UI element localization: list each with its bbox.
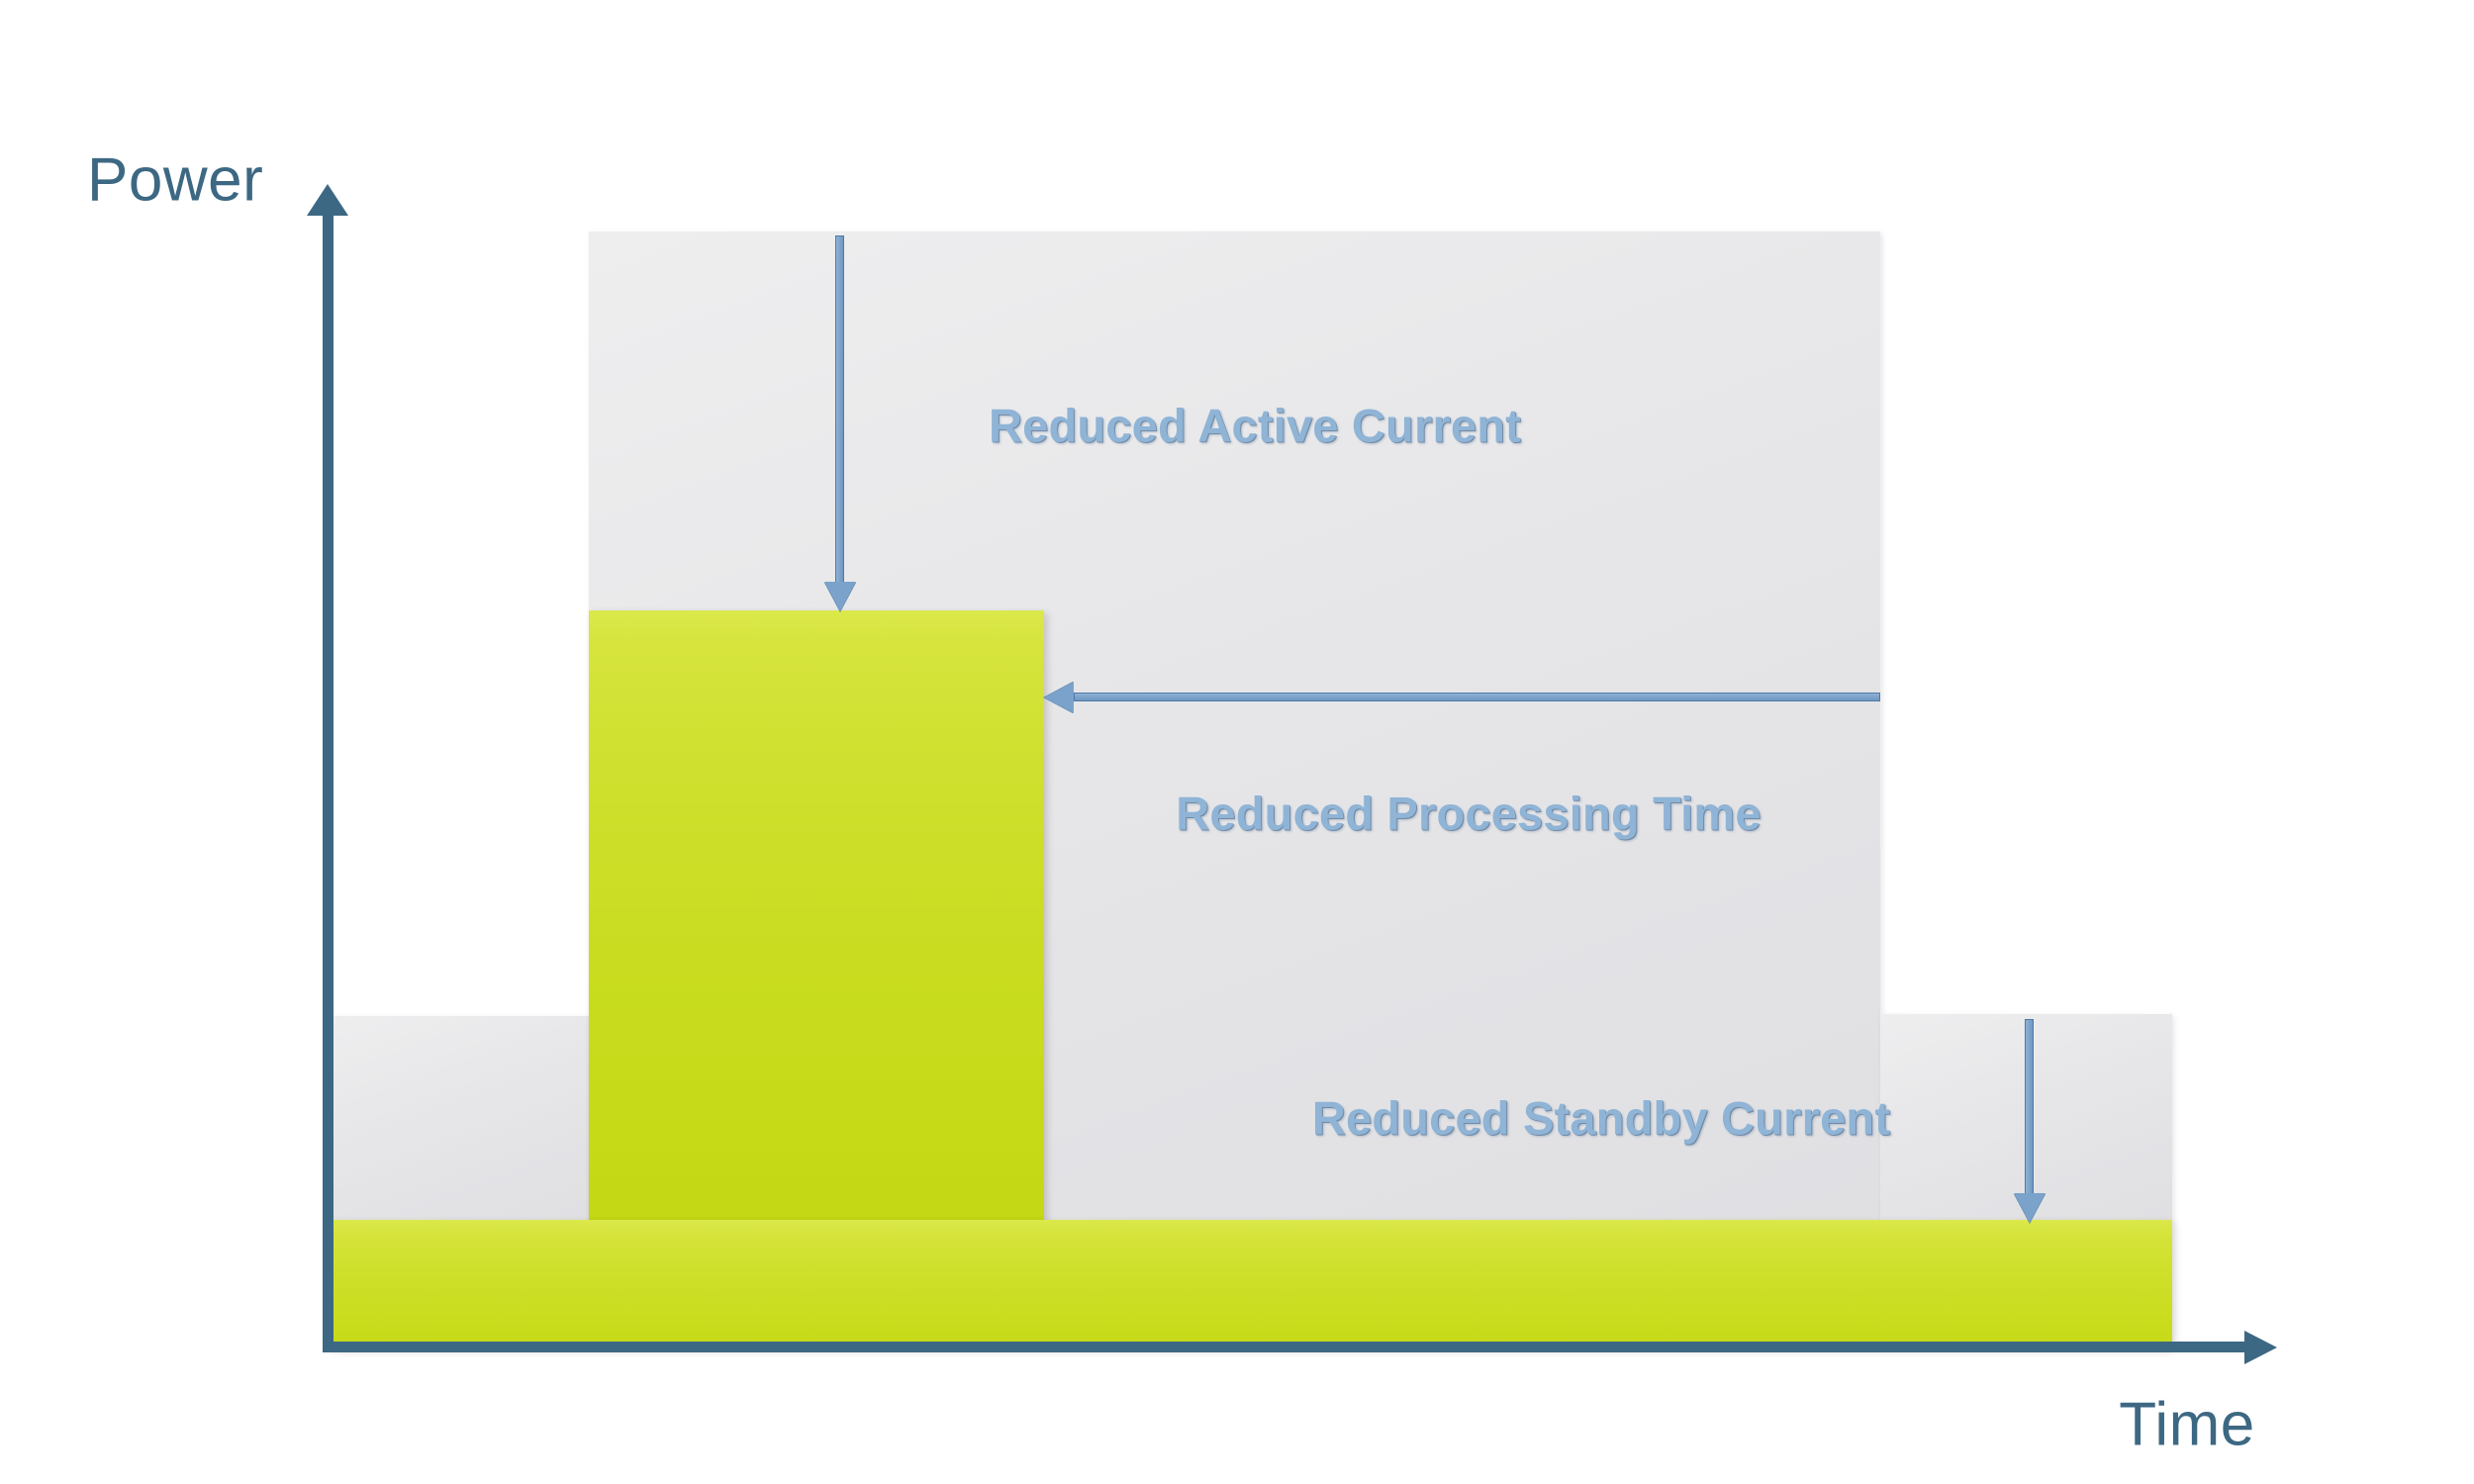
reduced-processing-time-label: Reduced Processing Time [1176,787,1760,841]
y-axis-line [323,212,333,1351]
y-axis-label: Power [87,145,263,216]
arrow-left-icon [1044,682,1074,713]
reduced-standby-current-label: Reduced Standby Current [1312,1091,1890,1146]
reduced-processing-time-arrow-shaft [1074,693,1880,701]
reduced-standby-current-arrow-shaft [2025,1019,2034,1195]
arrow-right-icon [2244,1331,2277,1364]
optimized-active-bar [589,610,1044,1224]
reduced-active-current-arrow-shaft [835,235,844,584]
reduced-active-current-label: Reduced Active Current [989,399,1521,453]
power-profile-diagram: Reduced Active Current Reduced Processin… [0,0,2474,1484]
x-axis-label: Time [2119,1390,2254,1460]
optimized-standby-baseline-bar [330,1220,2172,1348]
arrow-down-icon [2014,1193,2046,1223]
arrow-up-icon [307,184,348,216]
x-axis-line [323,1342,2252,1352]
reference-standby-left-block [330,1016,589,1222]
arrow-down-icon [824,582,856,611]
